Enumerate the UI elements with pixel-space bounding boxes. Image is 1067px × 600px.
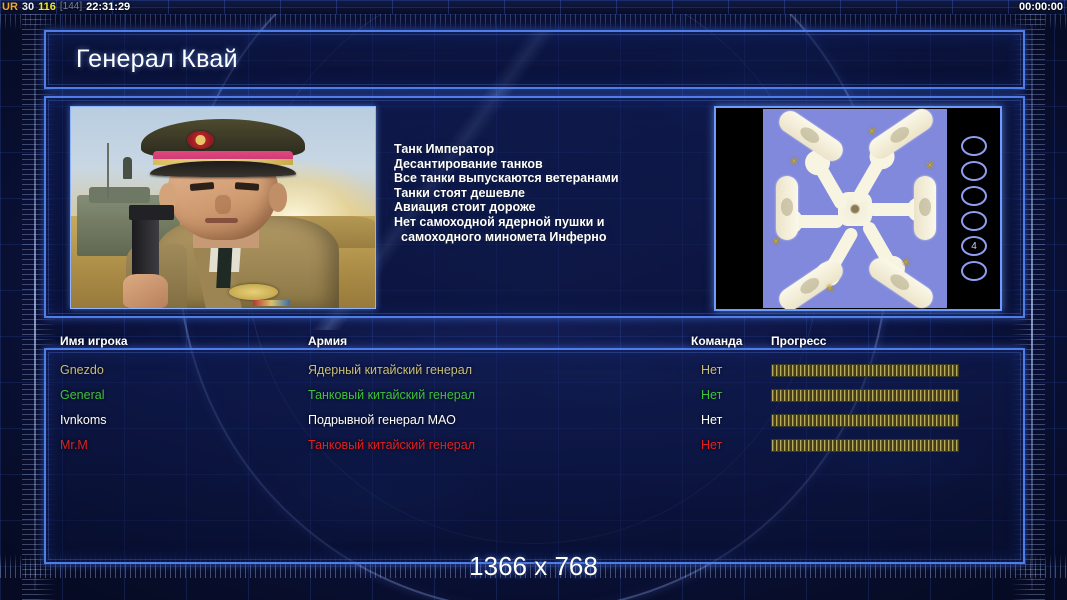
stat-clock: 22:31:29 (86, 0, 130, 14)
general-cap-emblem (187, 131, 214, 149)
map-start-base (914, 176, 936, 240)
general-bonus-list: Танк Император Десантирование танков Все… (394, 142, 694, 244)
player-name: General (60, 383, 104, 408)
map-slot[interactable]: 4 (961, 236, 987, 256)
portrait-tank-turret (89, 187, 150, 203)
player-list-headers: Имя игрока Армия Команда Прогресс (46, 328, 1027, 348)
player-army: Танковый китайский генерал (308, 383, 475, 408)
player-progress-bar (771, 389, 959, 402)
general-ribbon-bar (253, 300, 289, 306)
general-ear-right (269, 183, 287, 211)
player-army: Танковый китайский генерал (308, 433, 475, 458)
general-info-panel: Танк Император Десантирование танков Все… (44, 96, 1025, 318)
bonus-line: Авиация стоит дороже (394, 200, 694, 215)
column-header-name: Имя игрока (60, 334, 128, 348)
map-slot[interactable] (961, 186, 987, 206)
column-header-team: Команда (691, 334, 742, 348)
bonus-line: Танки стоят дешевле (394, 186, 694, 201)
stat-ping-max: [144] (60, 0, 82, 14)
player-team: Нет (701, 383, 722, 408)
player-progress-bar (771, 414, 959, 427)
network-stats: UR 30 116 [144] 22:31:29 (2, 0, 130, 14)
table-row: Mr.M Танковый китайский генерал Нет (46, 433, 1027, 458)
map-slot[interactable] (961, 136, 987, 156)
map-preview-inner: ✳ ✳ ✳ ✳ ✳ ✳ 4 (717, 109, 999, 308)
bonus-line: Нет самоходной ядерной пушки и (394, 215, 694, 230)
bonus-line: самоходного миномета Инферно (394, 230, 694, 245)
map-spoke (867, 203, 921, 216)
player-army: Подрывной генерал МАО (308, 408, 456, 433)
player-team: Нет (701, 358, 722, 383)
player-progress-bar (771, 364, 959, 377)
table-row: Ivnkoms Подрывной генерал МАО Нет (46, 408, 1027, 433)
session-timer: 00:00:00 (1019, 0, 1063, 14)
left-rail (34, 24, 36, 590)
right-rail (1031, 24, 1033, 590)
player-team: Нет (701, 408, 722, 433)
map-start-marker-icon: ✳ (901, 258, 911, 268)
general-nose (215, 195, 230, 213)
top-status-bar: UR 30 116 [144] 22:31:29 00:00:00 (0, 0, 1067, 14)
player-army: Ядерный китайский генерал (308, 358, 472, 383)
column-header-progress: Прогресс (771, 334, 826, 348)
map-start-marker-icon: ✳ (789, 157, 799, 167)
general-wing-badge (229, 284, 278, 300)
general-pistol-slide (129, 205, 175, 219)
map-start-marker-icon: ✳ (867, 127, 877, 137)
map-start-marker-icon: ✳ (825, 284, 835, 294)
map-start-marker-icon: ✳ (925, 161, 935, 171)
map-slot[interactable] (961, 161, 987, 181)
map-slot[interactable] (961, 261, 987, 281)
player-name: Mr.M (60, 433, 88, 458)
top-ruler (0, 14, 1067, 30)
map-start-marker-icon: ✳ (771, 237, 781, 247)
desktop-backdrop: Генерал Квай (0, 14, 1067, 600)
map-slot-column: 4 (951, 111, 997, 306)
player-progress-bar (771, 439, 959, 452)
general-portrait (70, 106, 376, 309)
map-terrain: ✳ ✳ ✳ ✳ ✳ ✳ (763, 109, 947, 308)
title-panel: Генерал Квай (44, 30, 1025, 89)
map-spoke (811, 158, 849, 211)
general-hand (123, 274, 169, 308)
bonus-line: Танк Император (394, 142, 694, 157)
player-team: Нет (701, 433, 722, 458)
table-row: Gnezdo Ядерный китайский генерал Нет (46, 358, 1027, 383)
player-name: Ivnkoms (60, 408, 107, 433)
loading-screen-shell: Генерал Квай (44, 30, 1025, 564)
status-bar-grid (0, 0, 1067, 14)
column-header-army: Армия (308, 334, 347, 348)
portrait-pole (107, 143, 109, 199)
stat-fps: 30 (22, 0, 34, 14)
player-rows: Gnezdo Ядерный китайский генерал Нет Gen… (46, 358, 1027, 458)
stat-ping: 116 (38, 0, 56, 14)
map-preview: ✳ ✳ ✳ ✳ ✳ ✳ 4 (714, 106, 1002, 311)
general-mouth (205, 218, 238, 223)
bonus-line: Все танки выпускаются ветеранами (394, 171, 694, 186)
map-slot[interactable] (961, 211, 987, 231)
bonus-line: Десантирование танков (394, 157, 694, 172)
portrait-soldier-silhouette (123, 157, 132, 179)
player-name: Gnezdo (60, 358, 104, 383)
map-start-base (776, 176, 798, 240)
page-title: Генерал Квай (76, 45, 238, 74)
resolution-caption: 1366 x 768 (0, 551, 1067, 582)
player-list-panel: Имя игрока Армия Команда Прогресс Gnezdo… (44, 348, 1025, 564)
general-cap-brim (150, 161, 296, 177)
stat-label: UR (2, 0, 18, 14)
table-row: General Танковый китайский генерал Нет (46, 383, 1027, 408)
